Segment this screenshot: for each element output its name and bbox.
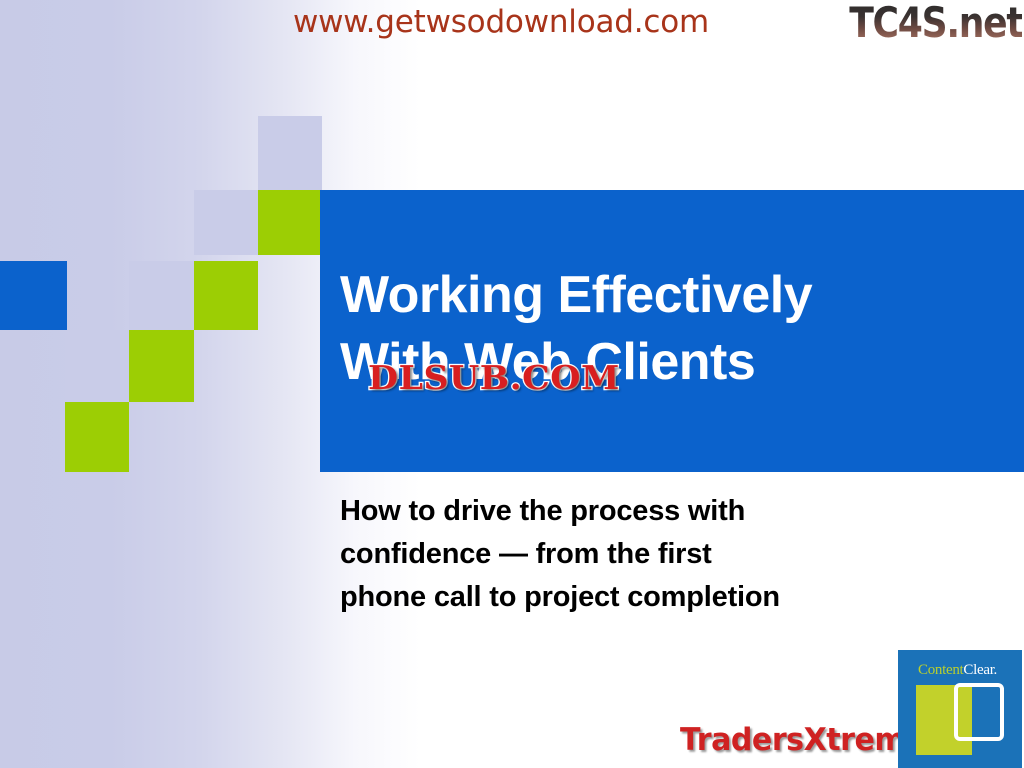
watermark-dlsub: DLSUB.COM bbox=[368, 358, 620, 397]
mosaic-square bbox=[258, 190, 322, 255]
slide-subtitle-line-2: confidence — from the first bbox=[340, 533, 980, 576]
logo-white-frame bbox=[954, 683, 1004, 741]
slide-subtitle-line-1: How to drive the process with bbox=[340, 490, 980, 533]
mosaic-square bbox=[129, 330, 194, 402]
contentclear-logo: ContentClear. bbox=[898, 650, 1022, 768]
mosaic-square bbox=[0, 261, 67, 330]
mosaic-square bbox=[65, 402, 129, 472]
presentation-slide: Working Effectively With Web Clients How… bbox=[0, 0, 1024, 768]
logo-word-clear: Clear. bbox=[963, 662, 997, 678]
mosaic-square bbox=[258, 116, 322, 190]
mosaic-square bbox=[194, 190, 258, 255]
contentclear-wordmark: ContentClear. bbox=[918, 662, 997, 679]
watermark-tc4s: TC4S.net bbox=[849, 0, 1022, 47]
mosaic-square bbox=[129, 261, 194, 330]
slide-title-line-1: Working Effectively bbox=[340, 262, 1000, 329]
mosaic-square bbox=[194, 261, 258, 330]
mosaic-square bbox=[65, 330, 129, 402]
logo-word-content: Content bbox=[918, 662, 963, 678]
watermark-getwsodownload: www.getwsodownload.com bbox=[293, 4, 709, 40]
slide-subtitle-line-3: phone call to project completion bbox=[340, 576, 980, 619]
slide-subtitle: How to drive the process with confidence… bbox=[340, 490, 980, 619]
